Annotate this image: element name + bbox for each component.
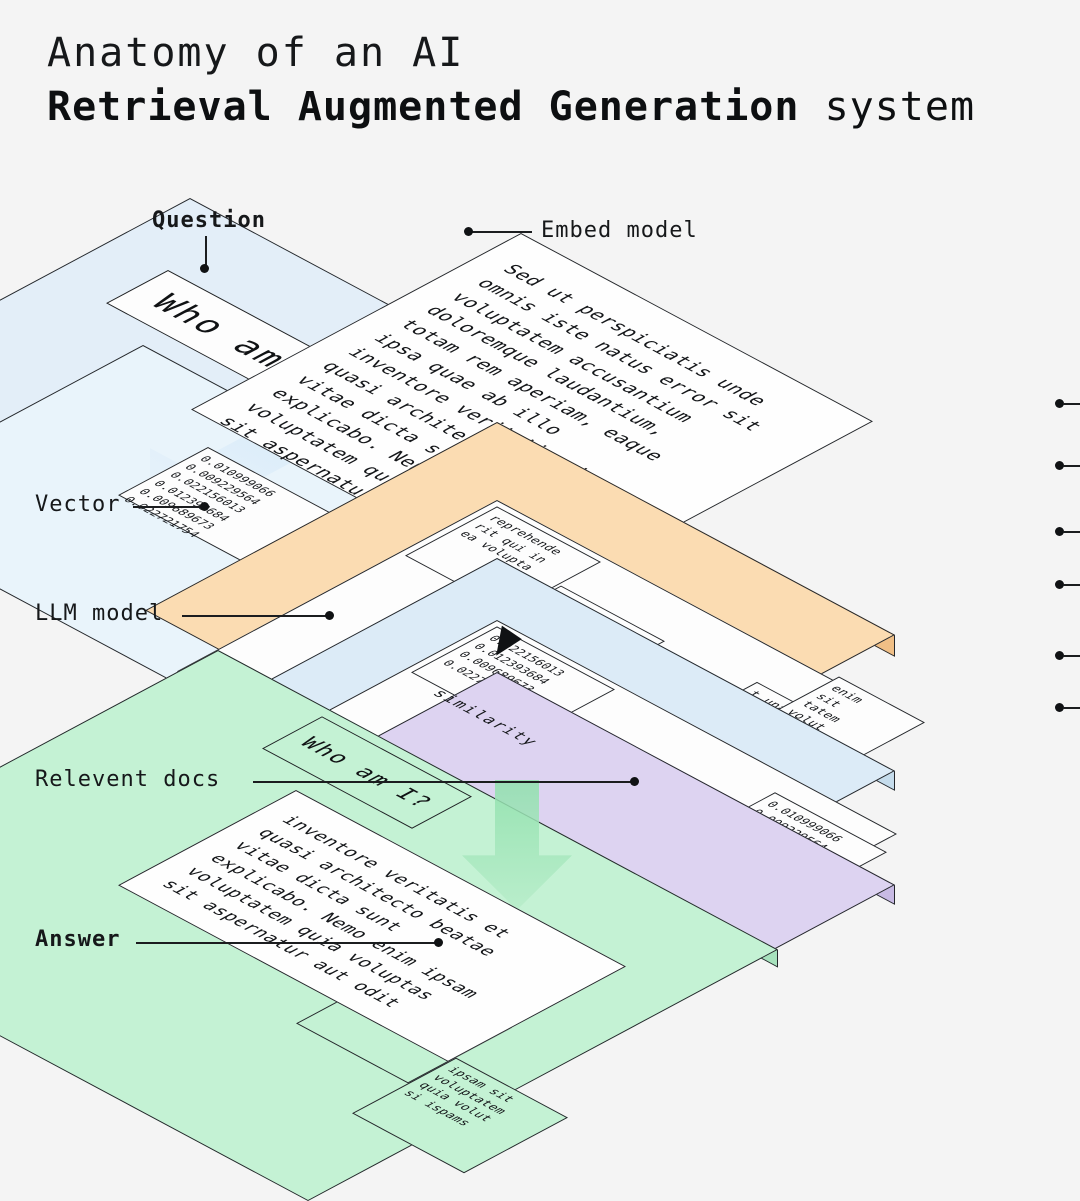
title-line-1: Anatomy of an AI [47, 32, 975, 74]
leader-right-1 [1063, 403, 1080, 405]
leader-embed-model [470, 231, 532, 233]
title-line-2: Retrieval Augmented Generation system [47, 82, 975, 132]
title-emphasis: Retrieval Augmented Generation [47, 84, 799, 130]
callout-embed-model: Embed model [541, 218, 698, 243]
anchor-dot-embed-model [464, 227, 473, 236]
leader-right-3 [1063, 531, 1080, 533]
callout-relevent-docs: Relevent docs [35, 767, 220, 792]
callout-question: Question [152, 208, 266, 233]
leader-right-2 [1063, 465, 1080, 467]
anchor-dot-llm-model [325, 611, 334, 620]
anchor-dot-vector [200, 502, 209, 511]
title-suffix: system [825, 84, 976, 130]
anchor-dot-relevent-docs [630, 777, 639, 786]
anchor-dot-question [200, 264, 209, 273]
callout-answer: Answer [35, 927, 120, 952]
callout-vector: Vector [35, 492, 120, 517]
leader-vector [133, 506, 203, 508]
leader-right-5 [1063, 655, 1080, 657]
anchor-dot-answer [434, 938, 443, 947]
leader-relevent-docs [253, 781, 635, 783]
leader-right-4 [1063, 584, 1080, 586]
leader-llm-model [182, 615, 328, 617]
callout-llm-model: LLM model [35, 601, 163, 626]
page-title: Anatomy of an AI Retrieval Augmented Gen… [47, 32, 975, 132]
leader-right-6 [1063, 707, 1080, 709]
diagram-canvas: Anatomy of an AI Retrieval Augmented Gen… [0, 0, 1080, 1080]
leader-answer [136, 942, 438, 944]
